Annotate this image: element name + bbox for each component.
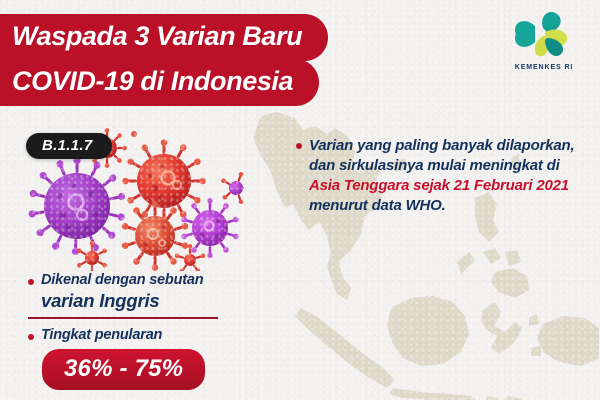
- kemenkes-wordmark: KEMENKES RI: [505, 64, 583, 71]
- bullet-dot-icon: [296, 143, 302, 149]
- bullet-dot-icon: [28, 279, 34, 285]
- para-segment-highlight: Asia Tenggara sejak 21 Februari 2021: [309, 177, 569, 194]
- transmission-rate-badge: 36% - 75%: [42, 349, 205, 390]
- left-facts-column: Dikenal dengan sebutan varian Inggris Ti…: [28, 272, 253, 390]
- right-facts-column: Varian yang paling banyak dilaporkan, da…: [296, 136, 586, 216]
- fact-item-who-report: Varian yang paling banyak dilaporkan, da…: [296, 136, 586, 216]
- section-divider: [28, 317, 218, 319]
- page-title-line-2: COVID-19 di Indonesia: [0, 59, 319, 106]
- fact-nickname-text: Dikenal dengan sebutan varian Inggris: [41, 272, 203, 311]
- who-report-paragraph: Varian yang paling banyak dilaporkan, da…: [309, 136, 586, 216]
- infographic-poster: B.1.1.7 Waspada 3 Varian Baru COVID-19 d…: [0, 0, 600, 400]
- kemenkes-ri-logo: KEMENKES RI: [505, 8, 583, 78]
- fact-nickname-small: Dikenal dengan sebutan: [41, 272, 203, 288]
- para-segment-3: menurut data WHO.: [309, 197, 446, 214]
- para-segment-1: Varian yang paling banyak dilaporkan, da…: [309, 137, 574, 174]
- fact-transmission-text: Tingkat penularan: [41, 327, 162, 344]
- page-title-line-1: Waspada 3 Varian Baru: [0, 14, 328, 61]
- bullet-dot-icon: [28, 334, 34, 340]
- fact-nickname-big: varian Inggris: [41, 290, 203, 311]
- kemenkes-clover-icon: [505, 8, 583, 58]
- fact-item-nickname: Dikenal dengan sebutan varian Inggris: [28, 272, 253, 311]
- fact-item-transmission: Tingkat penularan: [28, 327, 253, 344]
- variant-badge: B.1.1.7: [26, 133, 112, 159]
